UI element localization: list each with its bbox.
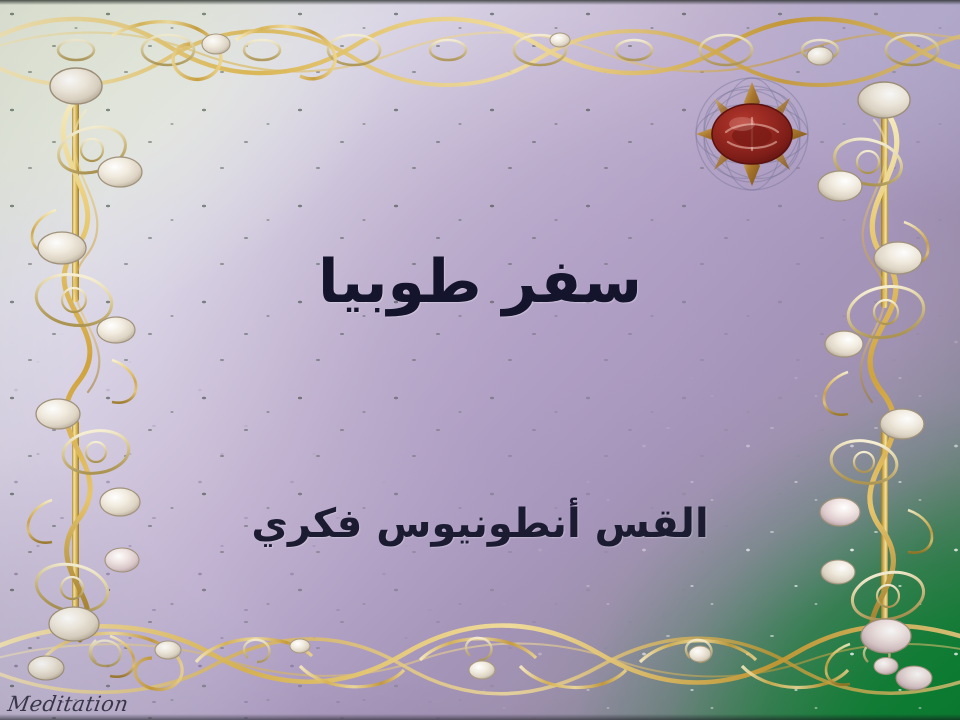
slide-edge-bottom — [0, 714, 960, 720]
slide-vignette — [0, 0, 960, 720]
presentation-slide: سفر طوبيا القس أنطونيوس فكري Meditation — [0, 0, 960, 720]
slide-edge-top — [0, 0, 960, 5]
